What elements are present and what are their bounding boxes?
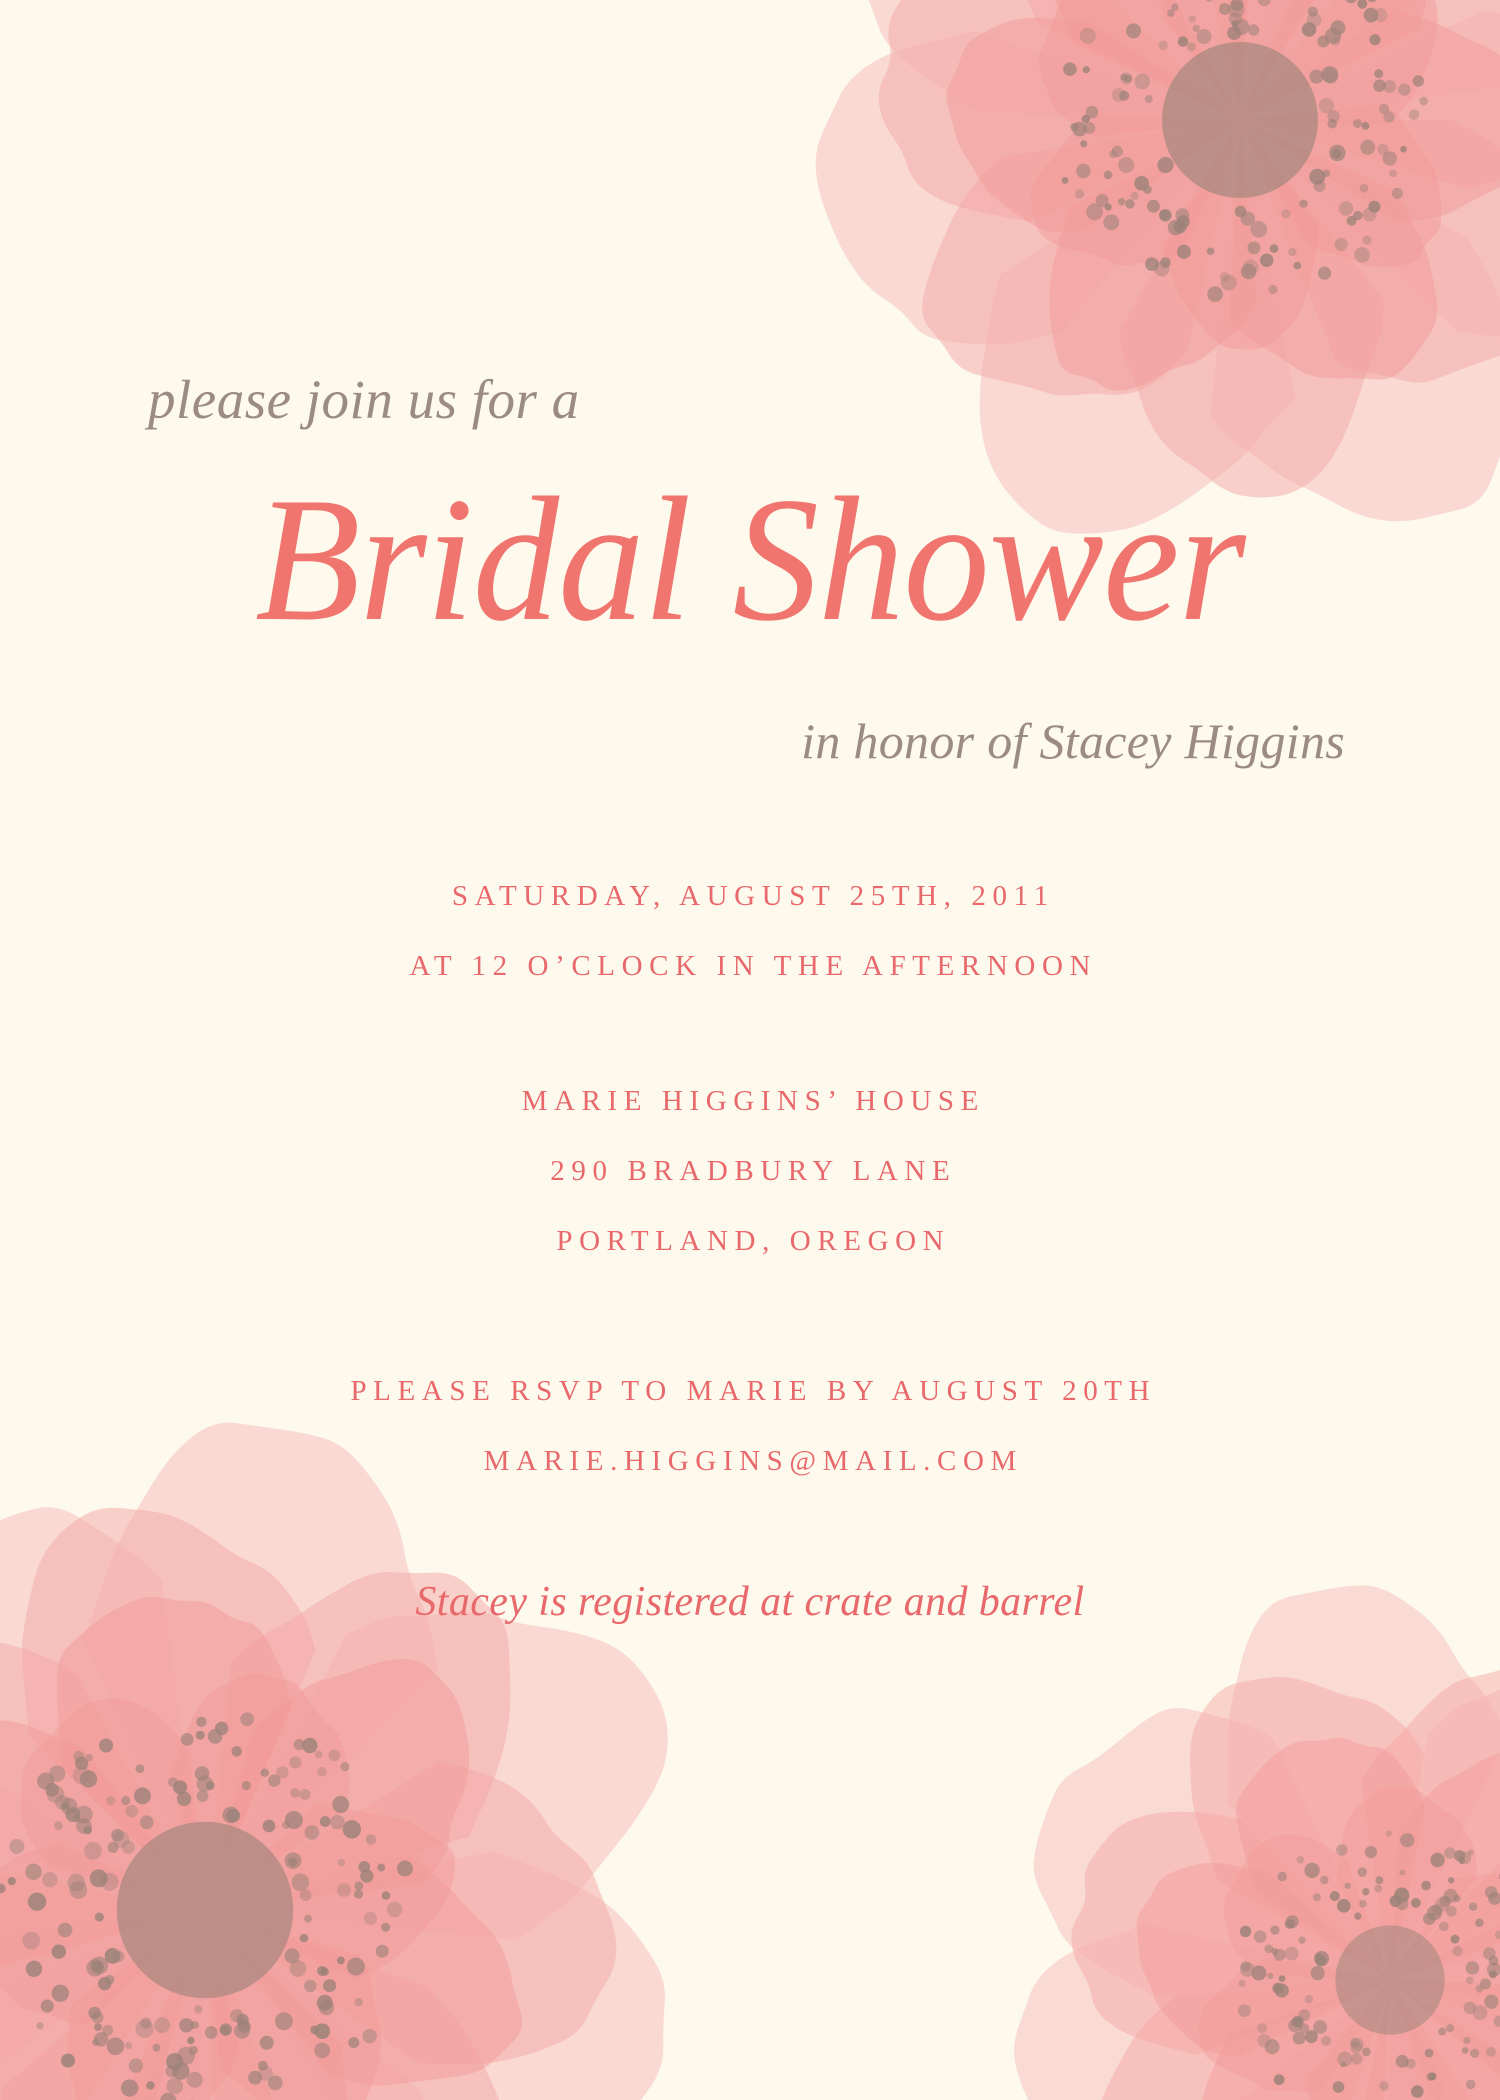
page-title: Bridal Shower [23,470,1478,648]
honoree-line: in honor of Stacey Higgins [801,712,1345,770]
invitation-text-block: please join us for a Bridal Shower in ho… [0,0,1500,2100]
intro-line: please join us for a [148,368,580,431]
event-date: SATURDAY, AUGUST 25TH, 2011 [0,880,1500,913]
venue-name: MARIE HIGGINS’ HOUSE [0,1085,1500,1118]
rsvp-email: MARIE.HIGGINS@MAIL.COM [0,1445,1500,1478]
event-time: AT 12 O’CLOCK IN THE AFTERNOON [0,950,1500,983]
rsvp-instruction: PLEASE RSVP TO MARIE BY AUGUST 20TH [0,1375,1500,1408]
registry-note: Stacey is registered at crate and barrel [0,1578,1500,1626]
bridal-shower-invitation-card: please join us for a Bridal Shower in ho… [0,0,1500,2100]
venue-street: 290 BRADBURY LANE [0,1155,1500,1188]
venue-city: PORTLAND, OREGON [0,1225,1500,1258]
